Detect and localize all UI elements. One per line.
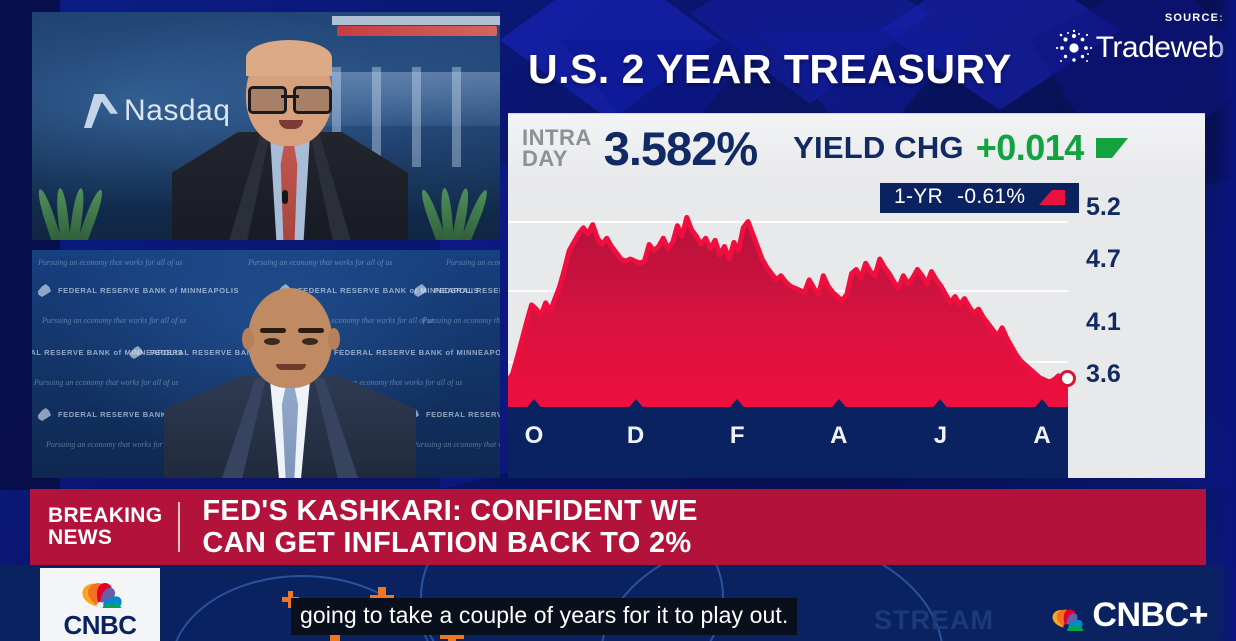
source-label: SOURCE: — [1054, 12, 1224, 24]
cnbc-logo-card: CNBC — [40, 568, 160, 641]
fed-tagline: Pursuing an economy that works for all o… — [412, 440, 500, 449]
fed-tagline: Pursuing an economy that works for all o… — [422, 316, 500, 325]
y-axis-label: 4.7 — [1086, 245, 1121, 274]
yield-change-value: +0.014 — [976, 127, 1084, 169]
yield-chart[interactable]: ODFAJA 5.24.74.13.6 1-YR -0.61% — [508, 183, 1205, 478]
treasury-title-block: U.S. 2 YEAR TREASURY — [528, 46, 1012, 93]
yield-change-label: YIELD CHG — [793, 130, 964, 166]
right-edge-vignette — [1214, 0, 1236, 641]
tradeweb-wordmark: Tradeweb — [1096, 31, 1224, 65]
triangle-down-icon — [1096, 138, 1128, 158]
kashkari-brow — [260, 328, 286, 333]
x-axis-label: J — [934, 422, 947, 450]
kashkari-mouth — [276, 364, 306, 370]
studio-pillar — [452, 67, 461, 167]
x-axis-label: O — [525, 422, 544, 450]
fed-tagline: Pursuing an economy that works for all o… — [38, 258, 182, 267]
studio-plant — [424, 184, 494, 240]
video-panel-anchor[interactable]: Nasdaq — [32, 12, 500, 240]
x-axis-label: F — [730, 422, 745, 450]
x-axis-tick — [1031, 399, 1053, 412]
fed-seal-icon — [412, 284, 427, 297]
breaking-news-label: BREAKING NEWS — [30, 505, 178, 550]
breaking-news-banner: BREAKING NEWS FED'S KASHKARI: CONFIDENT … — [30, 489, 1206, 565]
y-axis-label: 3.6 — [1086, 360, 1121, 389]
x-axis-tick — [523, 399, 545, 412]
fed-tagline: Pursuing an economy that works for all o… — [42, 316, 186, 325]
studio-plant — [40, 184, 110, 240]
studio-screen-red — [337, 26, 497, 36]
last-price-marker — [1059, 370, 1076, 387]
video-panel-kashkari[interactable]: Pursuing an economy that works for all o… — [32, 250, 500, 478]
x-axis-label: A — [1033, 422, 1050, 450]
y-axis-label: 5.2 — [1086, 193, 1121, 222]
x-axis-tick — [929, 399, 951, 412]
fed-wordmark: FEDERAL RESERVE BANK of MINNEAPOLIS — [412, 284, 500, 297]
studio-rail — [318, 72, 500, 126]
fed-wordmark: FEDERAL RESERVE BANK of MINNEAPOLIS — [312, 346, 500, 359]
kashkari-eye — [302, 338, 318, 345]
caption-text: going to take a couple of years for it t… — [300, 602, 788, 628]
yield-value: 3.582% — [604, 121, 757, 176]
fed-tagline: Pursuing an economy that works for all o… — [248, 258, 392, 267]
kashkari-brow — [298, 328, 324, 333]
intraday-label: INTRA DAY — [522, 127, 592, 169]
anchor-forehead — [246, 40, 332, 76]
kashkari-ear — [242, 328, 254, 350]
x-axis-band — [508, 407, 1068, 478]
broadcast-screen: Nasdaq — [0, 0, 1236, 641]
triangle-up-icon — [1039, 190, 1065, 205]
fed-seal-icon — [36, 408, 51, 421]
x-axis-tick — [726, 399, 748, 412]
nasdaq-mark-icon — [84, 94, 118, 128]
fed-wordmark: FEDERAL RESERVE BANK of MINNEAPOLIS — [36, 284, 239, 297]
kashkari-head — [248, 288, 332, 388]
studio-pillar — [412, 67, 421, 167]
fed-tagline: Pursuing an economy that works for all o… — [446, 258, 500, 267]
badge-value: -0.61% — [957, 185, 1025, 209]
x-axis-label: D — [627, 422, 644, 450]
cnbc-wordmark: CNBC — [63, 610, 136, 641]
cnbc-plus-logo: CNBC+ — [1046, 596, 1208, 635]
nasdaq-wordmark: Nasdaq — [124, 94, 230, 128]
kashkari-eye — [264, 338, 280, 345]
glasses-icon — [248, 86, 332, 108]
studio-screen — [332, 16, 500, 25]
fed-tagline: Pursuing an economy that works for all o… — [34, 378, 178, 387]
y-axis-label: 4.1 — [1086, 308, 1121, 337]
fed-seal-icon — [128, 346, 143, 359]
nbc-peacock-icon — [1046, 601, 1086, 631]
nbc-peacock-icon — [70, 575, 130, 608]
x-axis-tick — [828, 399, 850, 412]
closed-caption: going to take a couple of years for it t… — [291, 598, 797, 635]
one-year-badge: 1-YR -0.61% — [880, 183, 1079, 213]
stream-label: STREAM — [874, 605, 994, 636]
quote-bar: INTRA DAY 3.582% YIELD CHG +0.014 — [508, 113, 1205, 183]
lapel-mic-icon — [282, 190, 288, 204]
source-block: SOURCE: Tradeweb — [1054, 12, 1224, 68]
headline: FED'S KASHKARI: CONFIDENT WE CAN GET INF… — [180, 495, 697, 560]
yield-area-series — [508, 183, 1068, 407]
tradeweb-logo: Tradeweb — [1054, 28, 1224, 68]
x-axis-label: A — [830, 422, 847, 450]
cnbc-plus-wordmark: CNBC+ — [1092, 596, 1208, 635]
x-axis-tick — [625, 399, 647, 412]
nasdaq-logo: Nasdaq — [84, 94, 230, 128]
kashkari-ear — [328, 328, 340, 350]
page-title: U.S. 2 YEAR TREASURY — [528, 46, 1012, 93]
fed-seal-icon — [36, 284, 51, 297]
tradeweb-starburst-icon — [1054, 28, 1094, 68]
badge-period: 1-YR — [894, 185, 943, 209]
fed-wordmark: FEDERAL RESERVE BANK of MINNEAPOLIS — [404, 408, 500, 421]
